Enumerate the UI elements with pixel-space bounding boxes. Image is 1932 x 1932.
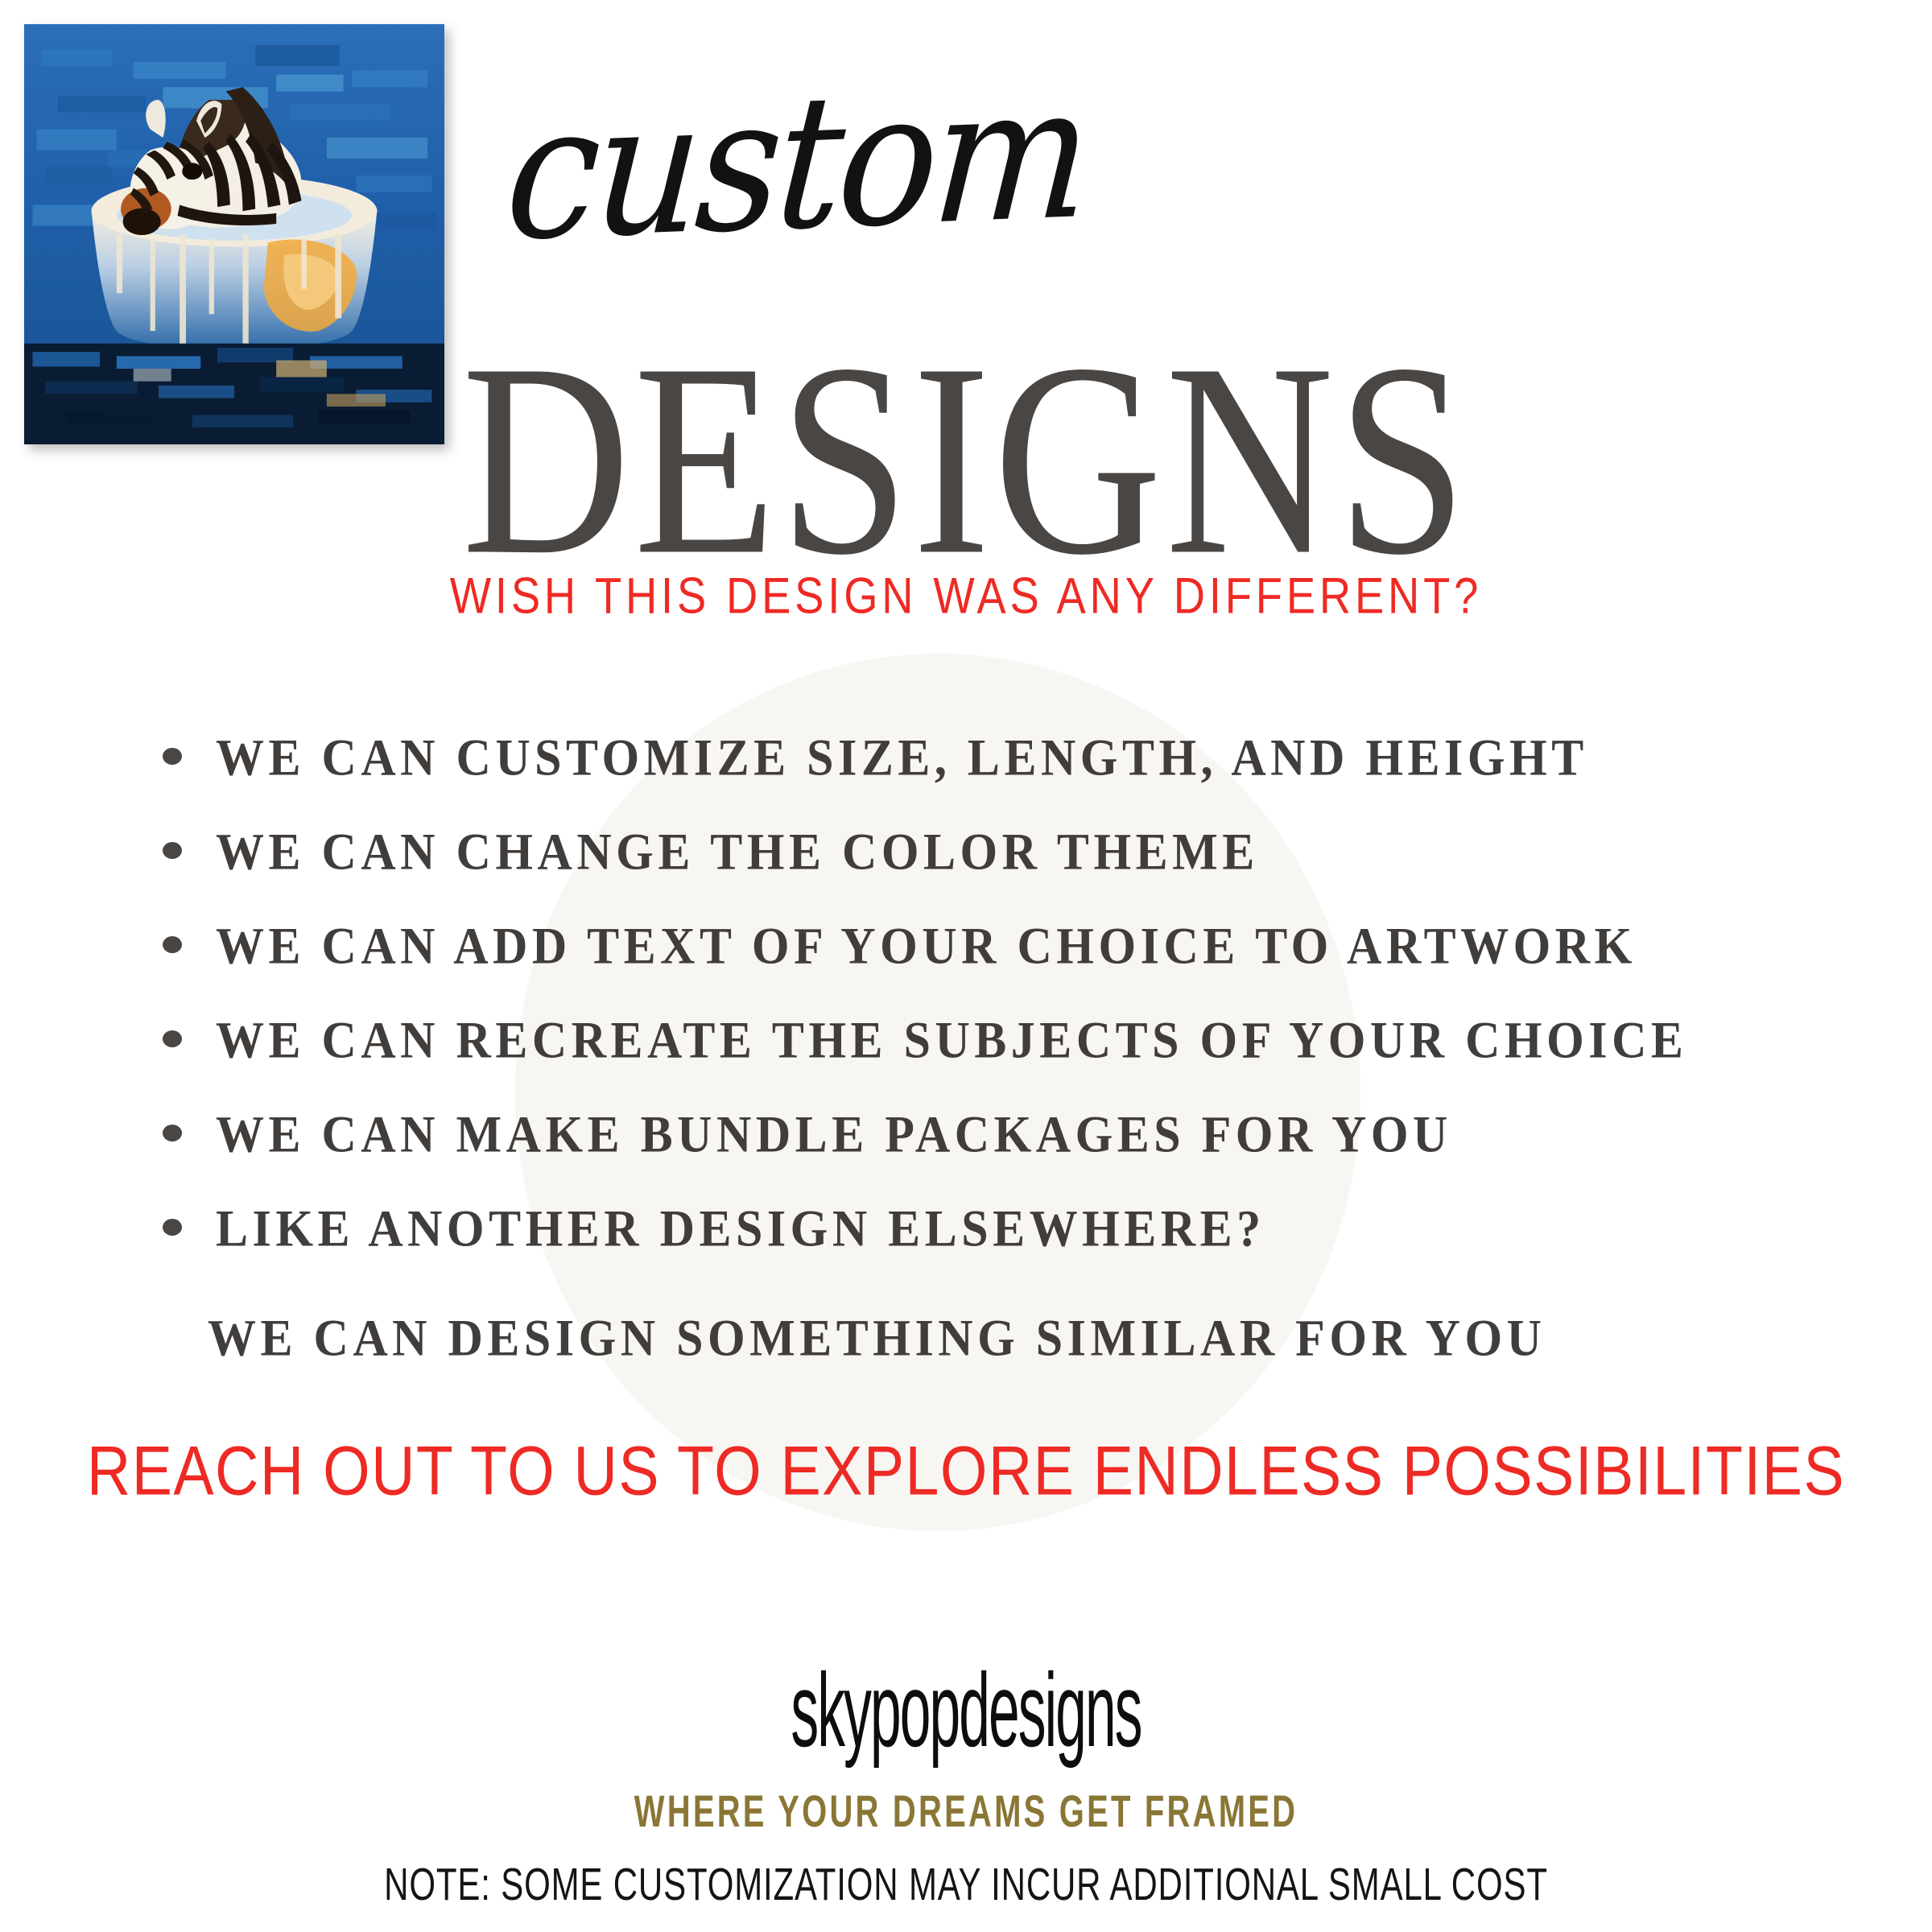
brand-tagline: WHERE YOUR DREAMS GET FRAMED [193, 1789, 1739, 1834]
list-item: WE CAN CHANGE THE COLOR THEME [153, 804, 1843, 898]
list-item: LIKE ANOTHER DESIGN ELSEWHERE? [153, 1181, 1843, 1275]
subheading-question: WISH THIS DESIGN WAS ANY DIFFERENT? [29, 571, 1903, 621]
brand-logo-text: skypopdesigns [367, 1658, 1565, 1763]
list-item: WE CAN MAKE BUNDLE PACKAGES FOR YOU [153, 1087, 1843, 1181]
benefits-list: WE CAN CUSTOMIZE SIZE, LENGTH, AND HEIGH… [153, 710, 1843, 1275]
benefit-label: LIKE ANOTHER DESIGN ELSEWHERE? [216, 1202, 1265, 1253]
bullet-dot-icon [163, 1219, 182, 1236]
custom-script-heading: custom [451, 85, 1497, 270]
benefit-label: WE CAN CUSTOMIZE SIZE, LENGTH, AND HEIGH… [216, 731, 1588, 782]
bullet-dot-icon [163, 1125, 182, 1141]
list-item: WE CAN CUSTOMIZE SIZE, LENGTH, AND HEIGH… [153, 710, 1843, 804]
benefit-label: WE CAN RECREATE THE SUBJECTS OF YOUR CHO… [216, 1013, 1687, 1065]
bullet-dot-icon [163, 1030, 182, 1047]
call-to-action-text: REACH OUT TO US TO EXPLORE ENDLESS POSSI… [10, 1437, 1922, 1507]
benefit-continuation-label: WE CAN DESIGN SOMETHING SIMILAR FOR YOU [208, 1312, 1546, 1364]
bullet-dot-icon [163, 748, 182, 765]
benefit-label: WE CAN ADD TEXT OF YOUR CHOICE TO ARTWOR… [216, 919, 1637, 971]
artwork-thumbnail[interactable] [24, 24, 444, 444]
custom-script-text: custom [444, 46, 1093, 285]
list-item: WE CAN ADD TEXT OF YOUR CHOICE TO ARTWOR… [153, 898, 1843, 993]
bullet-dot-icon [163, 842, 182, 859]
benefit-label: WE CAN CHANGE THE COLOR THEME [216, 825, 1259, 877]
benefit-label: WE CAN MAKE BUNDLE PACKAGES FOR YOU [216, 1108, 1452, 1159]
footnote-text: NOTE: SOME CUSTOMIZATION MAY INCUR ADDIT… [155, 1861, 1777, 1907]
list-item: WE CAN RECREATE THE SUBJECTS OF YOUR CHO… [153, 993, 1843, 1087]
zebra-bathtub-painting-icon [24, 24, 444, 444]
bullet-dot-icon [163, 936, 182, 953]
